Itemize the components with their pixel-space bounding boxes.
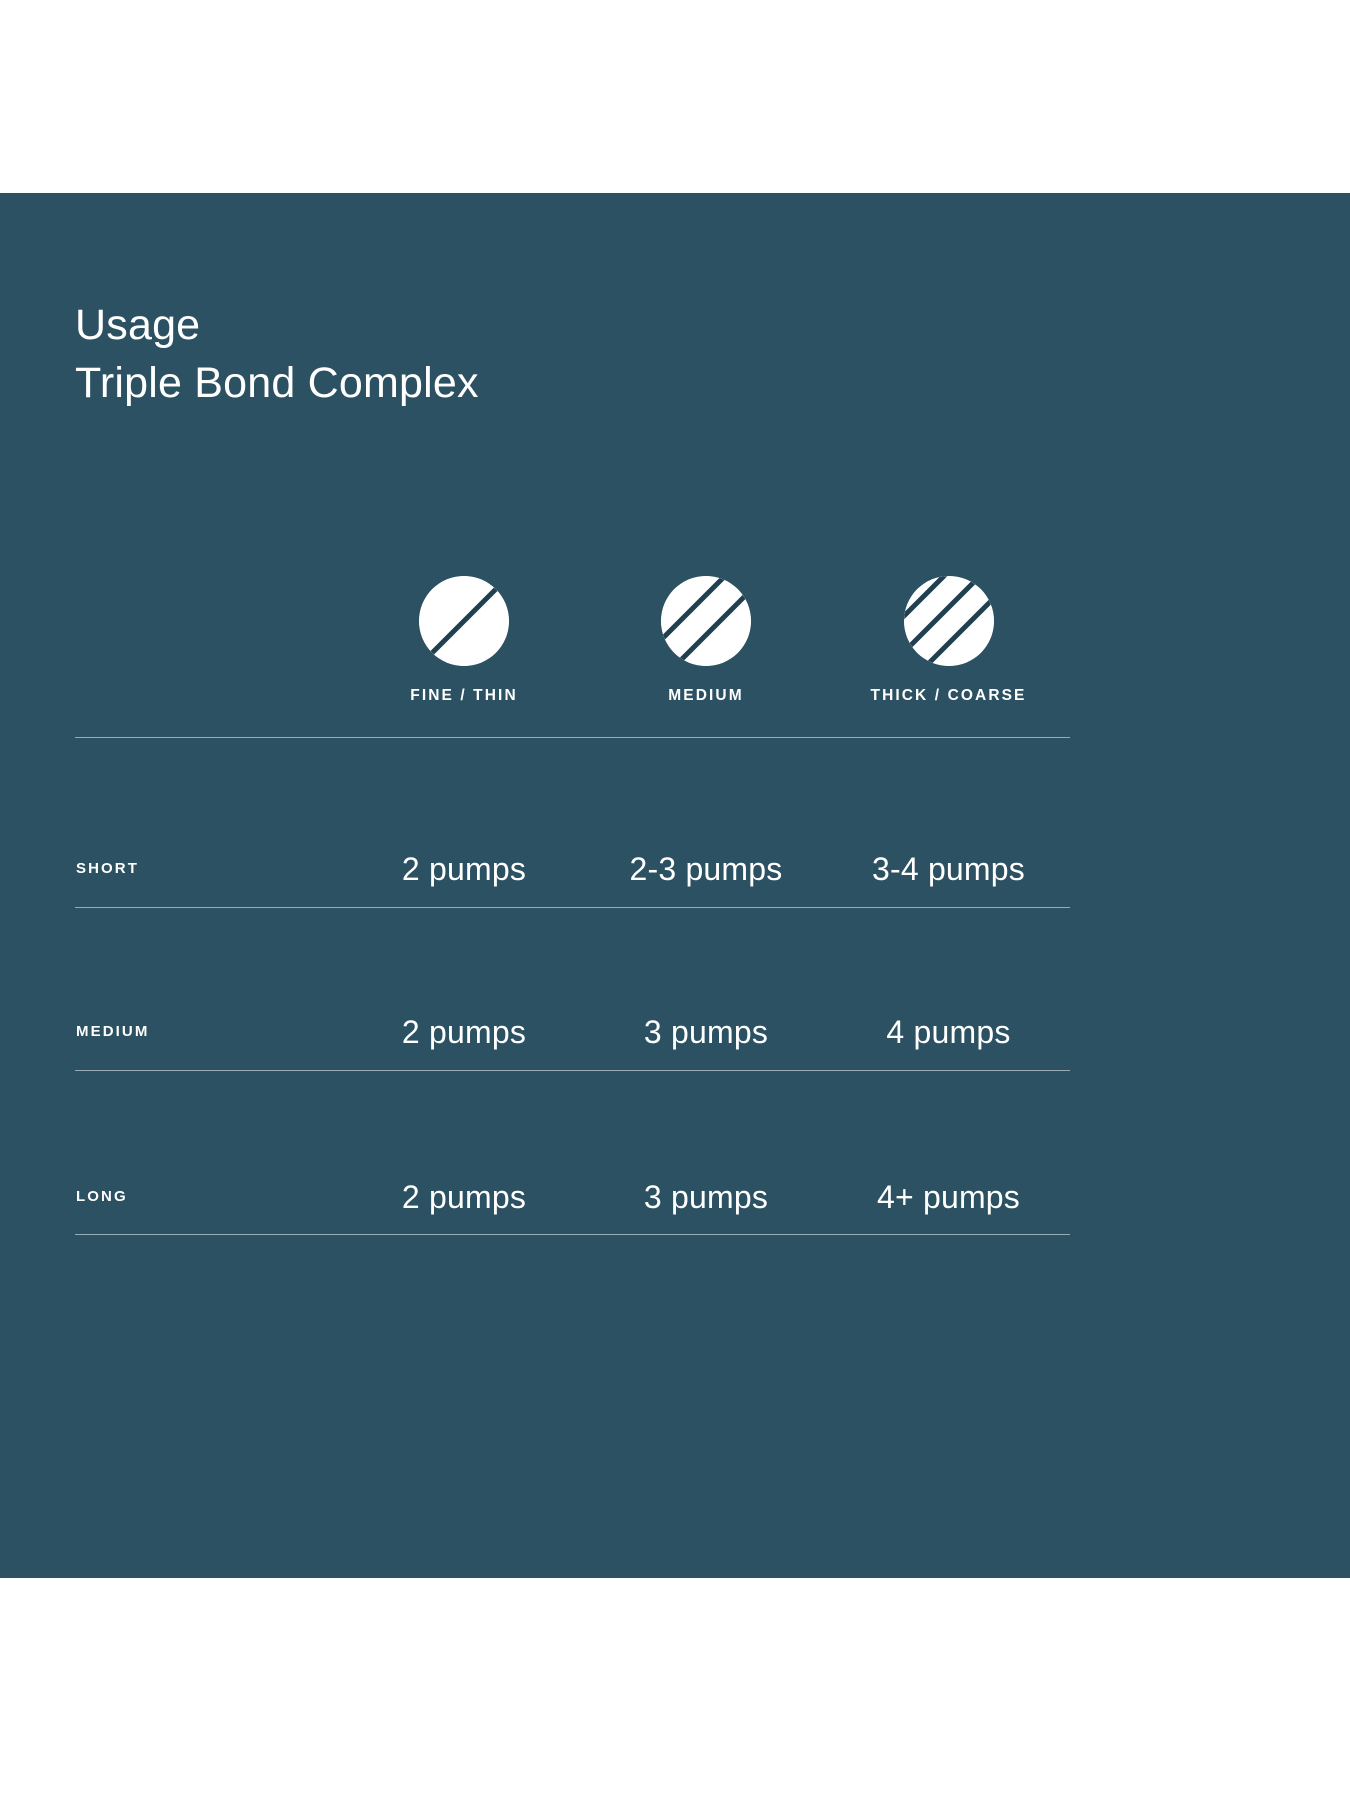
title-line-usage: Usage [75, 296, 479, 354]
row-header-short: SHORT [75, 843, 343, 895]
cell-short-thick-coarse: 3-4 pumps [827, 843, 1070, 895]
page-title: Usage Triple Bond Complex [75, 296, 479, 412]
row-header-medium: MEDIUM [75, 1006, 343, 1058]
row-divider-long [75, 1234, 1070, 1235]
table-row: MEDIUM 2 pumps 3 pumps 4 pumps [75, 1006, 1070, 1058]
cell-medium-medium: 3 pumps [585, 1006, 827, 1058]
table-row: LONG 2 pumps 3 pumps 4+ pumps [75, 1171, 1070, 1223]
usage-panel: Usage Triple Bond Complex [0, 193, 1350, 1578]
cell-long-fine-thin: 2 pumps [343, 1171, 585, 1223]
column-header-thick-coarse: THICK / COARSE [827, 685, 1070, 707]
cell-long-medium: 3 pumps [585, 1171, 827, 1223]
table-header-row: FINE / THIN MEDIUM THICK / COARSE [75, 685, 1070, 707]
column-icon-medium [585, 571, 827, 671]
column-header-fine-thin: FINE / THIN [343, 685, 585, 707]
row-divider-short [75, 907, 1070, 908]
table-icon-row [75, 571, 1070, 671]
icon-row-corner-spacer [75, 571, 343, 671]
title-line-product: Triple Bond Complex [75, 354, 479, 412]
header-divider [75, 737, 1070, 738]
cell-long-thick-coarse: 4+ pumps [827, 1171, 1070, 1223]
circle-two-stripes-icon [661, 576, 751, 666]
column-header-medium: MEDIUM [585, 685, 827, 707]
cell-short-medium: 2-3 pumps [585, 843, 827, 895]
table-row: SHORT 2 pumps 2-3 pumps 3-4 pumps [75, 843, 1070, 895]
usage-chart-canvas: Usage Triple Bond Complex [0, 0, 1350, 1800]
circle-one-stripe-icon [419, 576, 509, 666]
cell-short-fine-thin: 2 pumps [343, 843, 585, 895]
row-header-long: LONG [75, 1171, 343, 1223]
row-divider-medium [75, 1070, 1070, 1071]
circle-three-stripes-icon [904, 576, 994, 666]
column-icon-fine-thin [343, 571, 585, 671]
cell-medium-fine-thin: 2 pumps [343, 1006, 585, 1058]
cell-medium-thick-coarse: 4 pumps [827, 1006, 1070, 1058]
column-icon-thick-coarse [827, 571, 1070, 671]
